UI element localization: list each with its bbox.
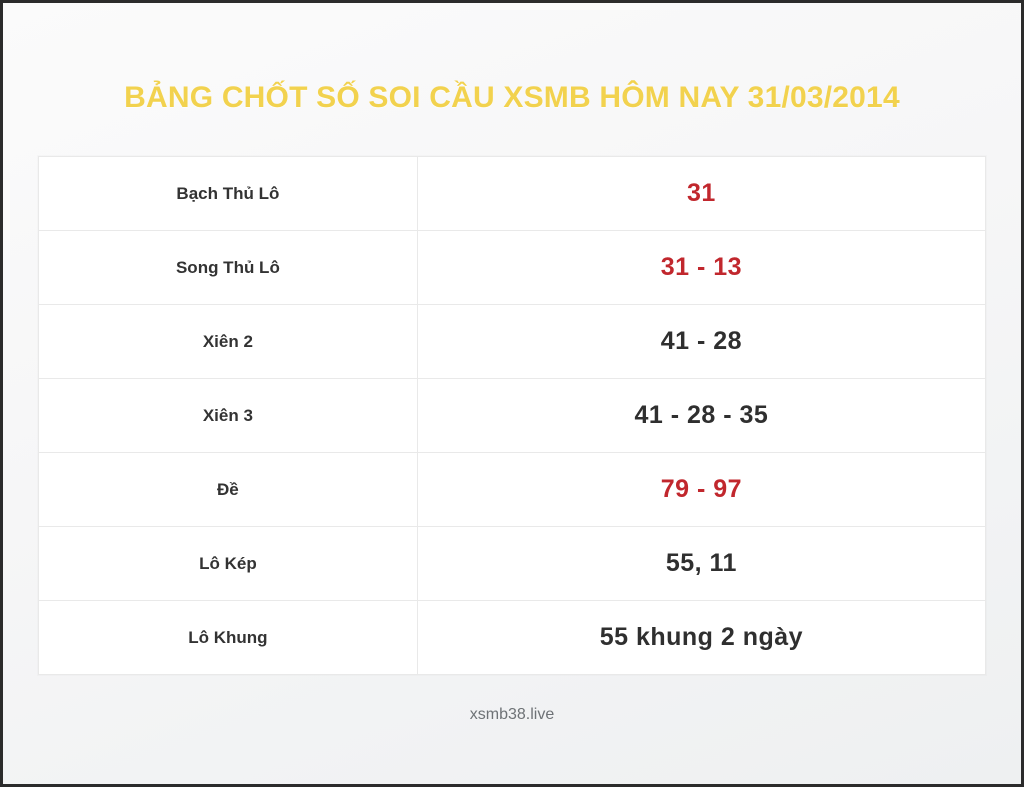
row-value: 79 - 97 <box>417 453 985 527</box>
row-value: 55 khung 2 ngày <box>417 601 985 675</box>
row-label: Đề <box>39 453 418 527</box>
row-label: Xiên 2 <box>39 305 418 379</box>
row-label: Xiên 3 <box>39 379 418 453</box>
table-row: Lô Khung55 khung 2 ngày <box>39 601 986 675</box>
table-row: Song Thủ Lô31 - 13 <box>39 231 986 305</box>
site-watermark: xsmb38.live <box>3 706 1021 724</box>
table-row: Bạch Thủ Lô31 <box>39 157 986 231</box>
row-label: Lô Kép <box>39 527 418 601</box>
row-value: 41 - 28 <box>417 305 985 379</box>
page-container: BẢNG CHỐT SỐ SOI CẦU XSMB HÔM NAY 31/03/… <box>3 3 1021 784</box>
prediction-table: Bạch Thủ Lô31Song Thủ Lô31 - 13Xiên 241 … <box>38 156 986 675</box>
page-title: BẢNG CHỐT SỐ SOI CẦU XSMB HÔM NAY 31/03/… <box>3 81 1021 115</box>
table-row: Xiên 241 - 28 <box>39 305 986 379</box>
table-row: Đề79 - 97 <box>39 453 986 527</box>
row-label: Lô Khung <box>39 601 418 675</box>
row-label: Song Thủ Lô <box>39 231 418 305</box>
prediction-table-container: Bạch Thủ Lô31Song Thủ Lô31 - 13Xiên 241 … <box>38 156 986 675</box>
row-value: 55, 11 <box>417 527 985 601</box>
table-row: Xiên 341 - 28 - 35 <box>39 379 986 453</box>
prediction-table-body: Bạch Thủ Lô31Song Thủ Lô31 - 13Xiên 241 … <box>39 157 986 675</box>
row-label: Bạch Thủ Lô <box>39 157 418 231</box>
row-value: 41 - 28 - 35 <box>417 379 985 453</box>
row-value: 31 - 13 <box>417 231 985 305</box>
row-value: 31 <box>417 157 985 231</box>
table-row: Lô Kép55, 11 <box>39 527 986 601</box>
